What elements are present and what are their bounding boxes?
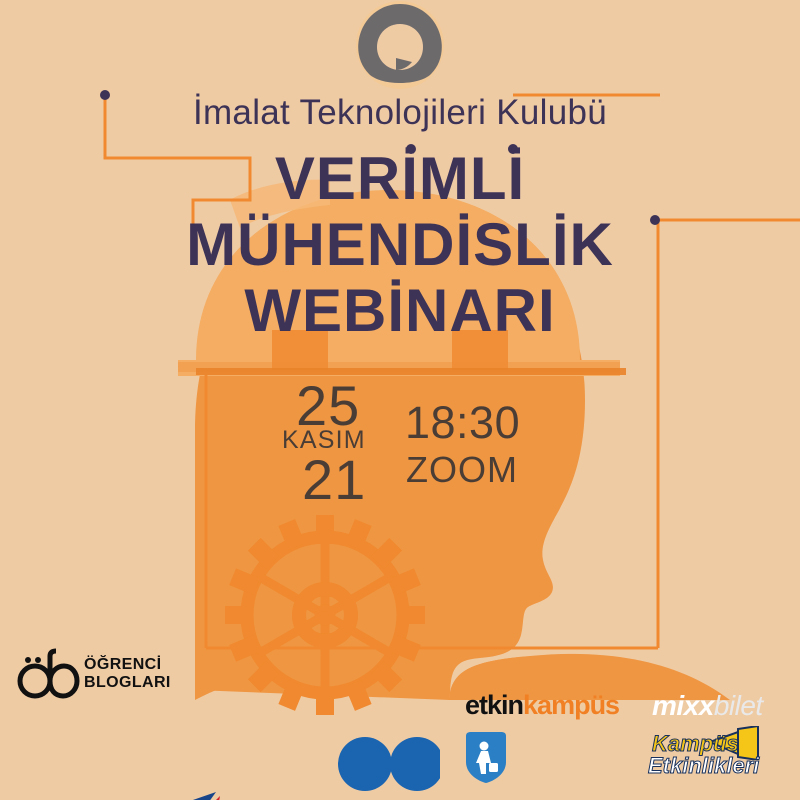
- tusas-arrow-icon: [158, 782, 228, 800]
- sponsor-ogrenci-bloglari: ÖĞRENCİ BLOGLARI: [14, 648, 194, 704]
- club-name: İmalat Teknolojileri Kulubü: [0, 94, 800, 133]
- kampus-etkinlikleri-line-2: Etkinlikleri: [648, 754, 759, 778]
- ogrenci-bloglari-text: ÖĞRENCİ BLOGLARI: [84, 656, 171, 692]
- event-platform: ZOOM: [406, 452, 518, 488]
- ogrenci-kariyeri-shield-icon: [460, 730, 512, 786]
- event-year: 21: [302, 452, 366, 508]
- event-time: 18:30: [405, 400, 520, 445]
- title-line-1: VERİMLİ: [0, 146, 800, 212]
- etkinkampus-part-1: etkin: [465, 690, 523, 720]
- page-title: VERİMLİ MÜHENDİSLİK WEBİNARI: [0, 146, 800, 344]
- sponsor-mixxbilet: mixxbilet: [652, 690, 763, 722]
- sponsor-turk-havacilik: TÜRKHAVACILIK UZAYSANAYİİ: [0, 720, 225, 790]
- ob-line-2: BLOGLARI: [84, 674, 171, 692]
- ob-monogram-icon: [14, 648, 84, 700]
- sponsor-kampus-etkinlikleri: Kampüs Etkinlikleri: [648, 732, 752, 786]
- mixxbilet-part-2: bilet: [714, 690, 763, 721]
- sponsor-ogrenci-kariyeri: ÖĞRENCİ KARİYERİ .com: [460, 728, 660, 790]
- event-poster: İmalat Teknolojileri Kulubü VERİMLİ MÜHE…: [0, 0, 800, 800]
- pin-logo-icon: [358, 4, 442, 83]
- title-line-3: WEBİNARI: [0, 278, 800, 344]
- sponsor-kordsa: KORDSA: [225, 732, 440, 794]
- sponsor-etkinkampus: etkinkampüs: [465, 690, 619, 721]
- kordsa-circles-icon: [225, 732, 440, 794]
- ob-line-1: ÖĞRENCİ: [84, 656, 171, 674]
- etkinkampus-part-2: kampüs: [523, 690, 619, 720]
- mixxbilet-part-1: mixx: [652, 690, 714, 721]
- sponsor-logos: ÖĞRENCİ BLOGLARI TÜRKHAVACILIK UZAYSANAY…: [0, 640, 800, 800]
- event-details: 25 KASIM 21 18:30 ZOOM: [0, 378, 800, 498]
- title-line-2: MÜHENDİSLİK: [0, 212, 800, 278]
